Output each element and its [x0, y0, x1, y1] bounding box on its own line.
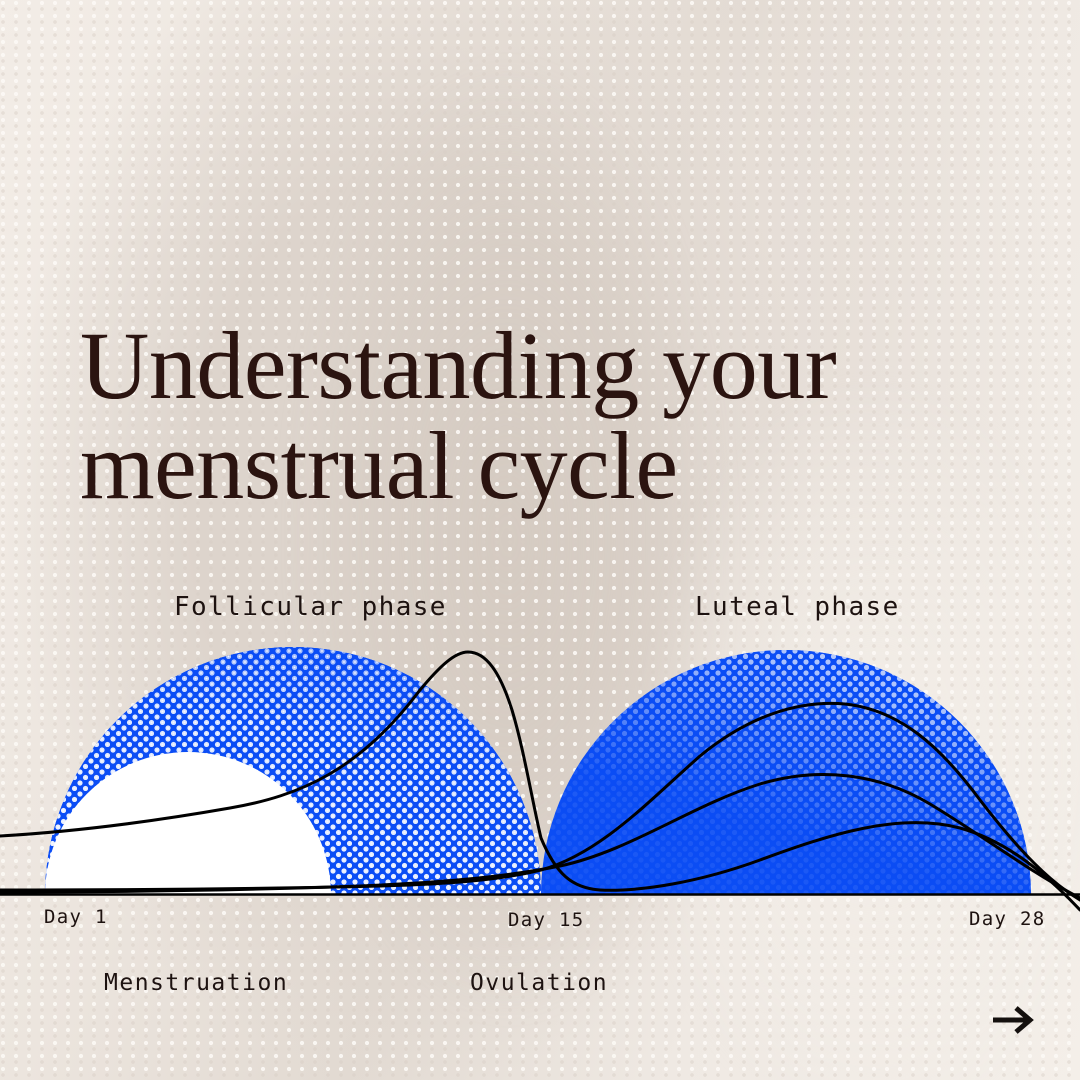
- cycle-chart: [0, 560, 1080, 960]
- next-slide-button[interactable]: [988, 998, 1040, 1042]
- axis-tick-day-1: Day 1: [44, 906, 108, 928]
- page-title: Understanding your menstrual cycle: [80, 316, 880, 516]
- axis-tick-day-28: Day 28: [969, 908, 1045, 930]
- slide-canvas: Understanding your menstrual cycle: [0, 0, 1080, 1080]
- axis-tick-day-15: Day 15: [508, 909, 584, 931]
- follicular-phase-label: Follicular phase: [174, 592, 447, 622]
- arrow-right-icon: [990, 1003, 1038, 1037]
- luteal-phase-label: Luteal phase: [695, 592, 900, 622]
- menstruation-label: Menstruation: [104, 970, 288, 996]
- ovulation-label: Ovulation: [470, 970, 608, 996]
